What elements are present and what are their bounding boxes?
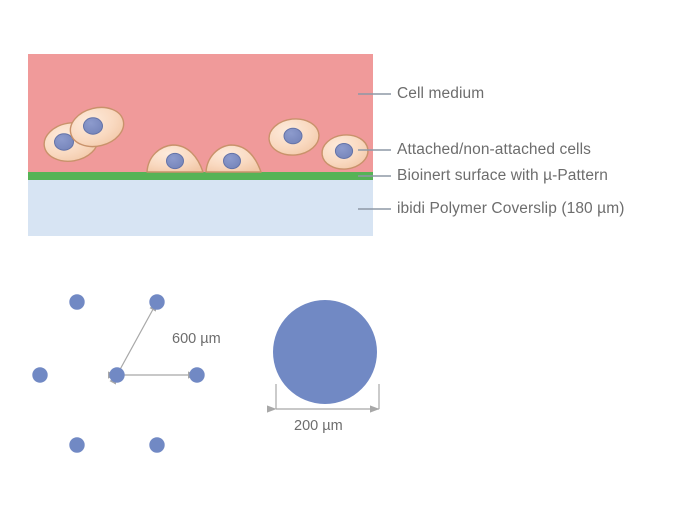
cell-nucleus [335, 144, 352, 159]
pattern-dot [69, 437, 84, 452]
label-attached-cells: Attached/non-attached cells [397, 141, 591, 159]
pattern-dot [149, 437, 164, 452]
cell-nucleus [224, 153, 241, 168]
pattern-dot [32, 367, 47, 382]
label-bioinert-surface: Bioinert surface with µ-Pattern [397, 167, 608, 185]
pattern-dot [149, 294, 164, 309]
figure-canvas: Cell medium Attached/non-attached cells … [0, 0, 694, 520]
diameter-label-200um: 200 µm [294, 418, 343, 434]
pattern-dot [69, 294, 84, 309]
cell-nucleus [55, 134, 74, 150]
pattern-dot [109, 367, 124, 382]
label-cell-medium: Cell medium [397, 85, 484, 103]
cell-nucleus [84, 118, 103, 134]
label-polymer-coverslip: ibidi Polymer Coverslip (180 µm) [397, 200, 624, 218]
pattern-dot [189, 367, 204, 382]
spacing-label-600um: 600 µm [172, 331, 221, 347]
polymer-coverslip-layer [28, 180, 373, 236]
bioinert-surface-layer [28, 172, 373, 180]
cell-nucleus [167, 153, 184, 168]
pattern-spot-circle [273, 300, 377, 404]
cell-nucleus [284, 128, 302, 144]
spacing-arrow-diagonal [117, 302, 157, 375]
cross-section-panel [0, 0, 694, 260]
